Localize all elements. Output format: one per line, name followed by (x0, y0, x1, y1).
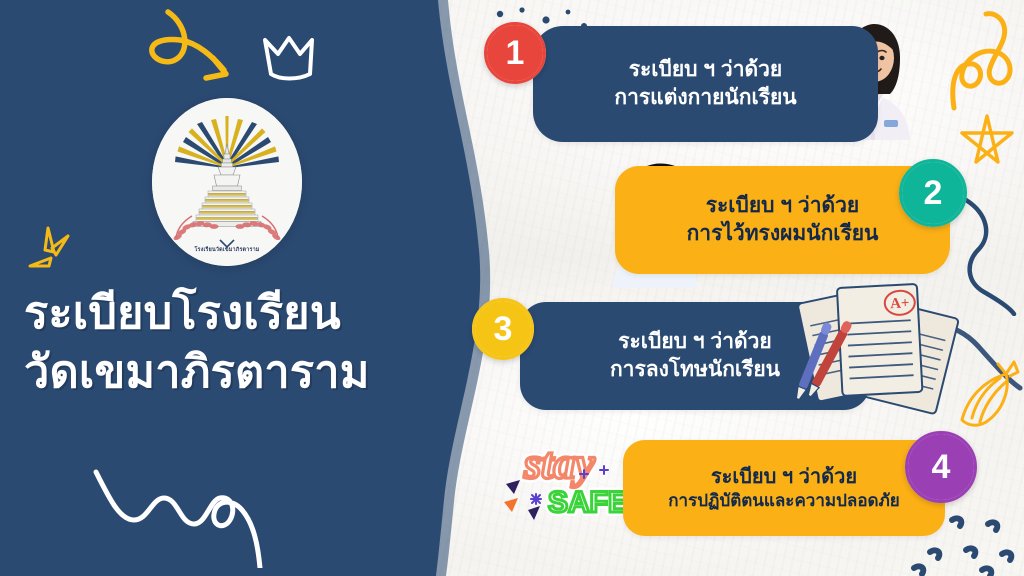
card-4-line1: ระเบียบ ฯ ว่าด้วย (711, 464, 857, 490)
card-4-number: 4 (932, 450, 951, 484)
page-title-line1: ระเบียบโรงเรียน (24, 287, 341, 338)
card-1-line1: ระเบียบ ฯ ว่าด้วย (629, 56, 782, 84)
card-2-line1: ระเบียบ ฯ ว่าด้วย (706, 192, 859, 220)
card-3-number-badge[interactable]: 3 (472, 298, 534, 360)
card-1[interactable]: ระเบียบ ฯ ว่าด้วย การแต่งกายนักเรียน (533, 26, 878, 142)
card-3-line2: การลงโทษนักเรียน (610, 356, 780, 384)
card-3-line1: ระเบียบ ฯ ว่าด้วย (618, 328, 771, 356)
card-2-number: 2 (924, 176, 943, 210)
card-1-bubble: ระเบียบ ฯ ว่าด้วย การแต่งกายนักเรียน (533, 26, 878, 142)
card-1-line2: การแต่งกายนักเรียน (614, 84, 796, 112)
card-1-number: 1 (506, 36, 525, 70)
papers-and-pens-illustration: A+ (790, 272, 966, 424)
card-2-line2: การไว้ทรงผมนักเรียน (687, 220, 879, 248)
stay-safe-sticker: stay SAFE stay SAFE (500, 432, 640, 528)
card-4-line2: การปฏิบัติตนและความปลอดภัย (668, 490, 899, 512)
card-4-bubble: ระเบียบ ฯ ว่าด้วย การปฏิบัติตนและความปลอ… (623, 440, 945, 536)
card-4[interactable]: ระเบียบ ฯ ว่าด้วย การปฏิบัติตนและความปลอ… (623, 440, 945, 536)
page-title-line2: วัดเขมาภิรตาราม (24, 345, 476, 400)
page-title: ระเบียบโรงเรียน วัดเขมาภิรตาราม (24, 286, 476, 400)
svg-text:stay: stay (523, 439, 595, 488)
svg-text:SAFE: SAFE (548, 486, 628, 519)
svg-text:A+: A+ (890, 295, 910, 312)
card-3-number: 3 (494, 312, 513, 346)
infographic-poster: โรงเรียนวัดเขมาภิรตาราม ระเบียบโรงเรียน … (0, 0, 1024, 576)
card-1-number-badge[interactable]: 1 (484, 22, 546, 84)
card-4-number-badge[interactable]: 4 (905, 431, 977, 503)
school-logo-caption: โรงเรียนวัดเขมาภิรตาราม (152, 246, 302, 254)
card-2-number-badge[interactable]: 2 (899, 159, 967, 227)
school-logo: โรงเรียนวัดเขมาภิรตาราม (152, 98, 302, 266)
